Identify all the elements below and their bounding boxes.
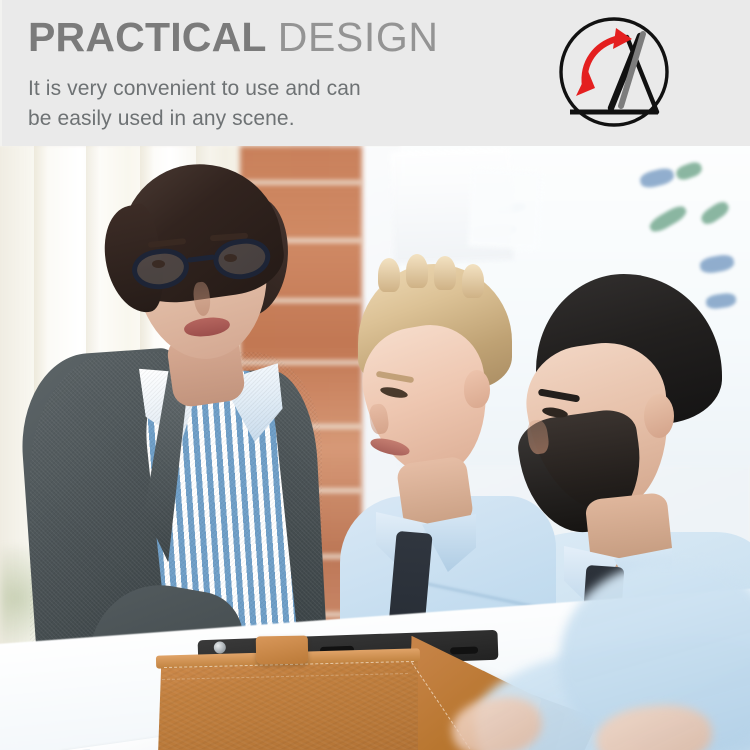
eyeglass-lens-right: [211, 236, 272, 283]
eyeglass-lens-left: [130, 246, 191, 293]
blonde-man-ear: [464, 370, 490, 408]
leather-grain-texture: [156, 654, 418, 750]
kickstand-adjustable-angle-icon: [554, 12, 674, 132]
header-band: PRACTICAL DESIGN It is very convenient t…: [0, 0, 750, 146]
header-text-column: PRACTICAL DESIGN It is very convenient t…: [28, 17, 528, 134]
page-title-light: DESIGN: [278, 14, 439, 60]
case-top-stud: [214, 641, 226, 653]
page-subtitle: It is very convenient to use and can be …: [28, 74, 498, 134]
hair-spike: [434, 256, 456, 290]
bearded-man-ear: [644, 394, 674, 438]
wall-paper-sheet: [468, 168, 542, 250]
phone-button-cutout: [450, 646, 478, 654]
hair-spike: [462, 264, 484, 298]
product-feature-banner: PRACTICAL DESIGN It is very convenient t…: [0, 0, 750, 750]
hair-spike: [378, 258, 400, 292]
magnetic-closure-tab: [256, 636, 308, 665]
page-subtitle-line-2: be easily used in any scene.: [28, 104, 498, 134]
woman-eye-left: [152, 260, 165, 268]
hair-spike: [406, 254, 428, 288]
eyeglass-bridge: [187, 254, 215, 262]
page-title-strong: PRACTICAL: [28, 14, 267, 60]
page-title: PRACTICAL DESIGN: [28, 17, 528, 58]
woman-eye-right: [224, 254, 237, 262]
page-subtitle-line-1: It is very convenient to use and can: [28, 74, 498, 104]
product-lifestyle-photo: [0, 146, 750, 750]
